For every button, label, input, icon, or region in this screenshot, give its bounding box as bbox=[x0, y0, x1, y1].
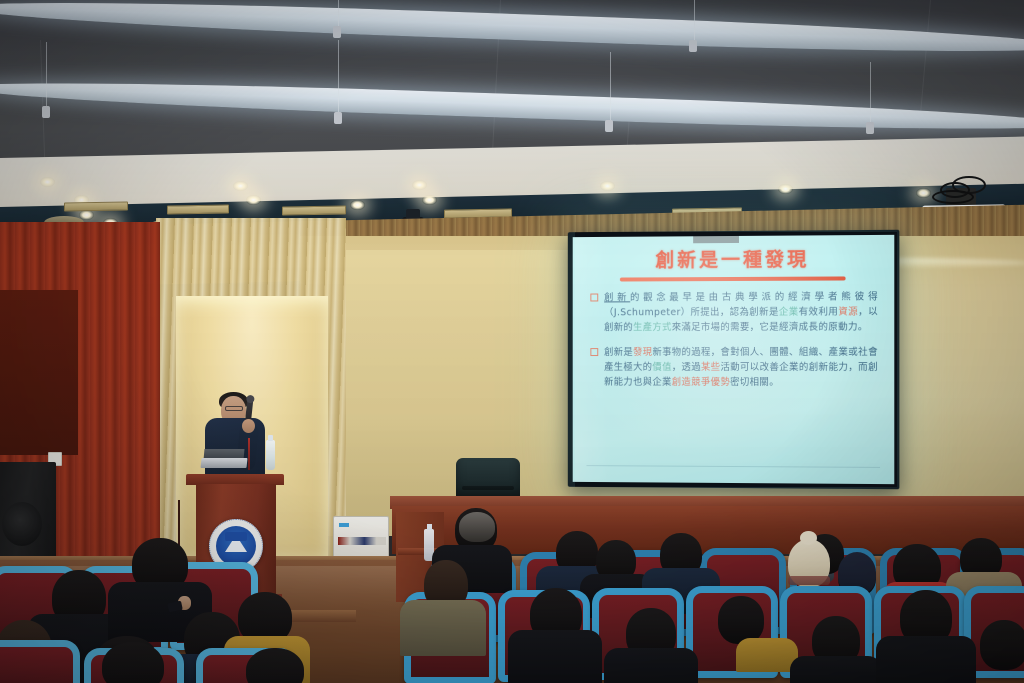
panel-breaker-row bbox=[338, 537, 386, 545]
light-hanger-clip bbox=[333, 26, 341, 38]
red-wall-recess bbox=[0, 290, 78, 455]
downlight bbox=[422, 195, 437, 205]
light-hanger-clip bbox=[866, 122, 874, 134]
podium-laptop[interactable] bbox=[200, 458, 247, 468]
seat-frame bbox=[0, 640, 80, 683]
bullet2-seg-4: ，透過 bbox=[672, 362, 701, 373]
auditorium-seat[interactable] bbox=[0, 640, 80, 683]
screen-surface: 創新是一種發現 創新的觀念最早是由古典學派的經濟學者熊彼得（J.Schumpet… bbox=[573, 235, 895, 484]
bullet2-seg-1: 發現 bbox=[633, 347, 652, 358]
light-hanger-clip bbox=[689, 40, 697, 52]
ceiling-air-vent bbox=[282, 205, 346, 215]
downlight bbox=[412, 180, 427, 190]
lecture-hall-photo: ||| 創新是一種發現 創新的觀念最早是由古典學派的經濟學者熊彼得（J.Schu… bbox=[0, 0, 1024, 683]
bullet1-seg-7: 來滿足市場的需要，它是經濟成長的原動力。 bbox=[672, 322, 868, 333]
ceiling-seam bbox=[40, 40, 46, 170]
downlight bbox=[778, 184, 793, 194]
projector-cable bbox=[932, 190, 974, 204]
ceiling-light-strip bbox=[0, 0, 1024, 59]
bullet2-seg-7: 創造競爭優勢 bbox=[672, 377, 730, 388]
slide-title-underline bbox=[620, 276, 846, 281]
audience-head bbox=[102, 642, 164, 683]
bullet1-seg-3: 有效利用 bbox=[799, 307, 839, 318]
bullet2-seg-3: 價值 bbox=[652, 362, 671, 373]
bullet1-seg-4: 資源 bbox=[838, 307, 858, 318]
downlight bbox=[916, 188, 931, 198]
presenter-glasses bbox=[225, 406, 243, 411]
light-hanger bbox=[870, 62, 871, 126]
podium-microphone-stand bbox=[248, 438, 250, 470]
audience-head bbox=[246, 648, 304, 683]
bullet2-seg-5: 某些 bbox=[701, 362, 721, 373]
light-hanger bbox=[610, 52, 611, 124]
bullet1-seg-6: 生產方式 bbox=[633, 322, 672, 333]
audience-head-grey-hair bbox=[459, 512, 495, 542]
slide-bullet-2-text: 創新是發現新事物的過程，會對個人、團體、組織、產業或社會產生極大的價值，透過某些… bbox=[604, 344, 878, 390]
downlight bbox=[246, 195, 261, 205]
light-hanger-clip bbox=[605, 120, 613, 132]
downlight bbox=[600, 181, 615, 191]
audience-shoulders bbox=[604, 648, 698, 683]
bullet1-seg-2: 企業 bbox=[779, 307, 799, 318]
executive-chair-seam bbox=[462, 486, 514, 490]
audience-shoulders bbox=[876, 636, 976, 683]
downlight bbox=[350, 200, 365, 210]
audience-shoulders bbox=[736, 638, 798, 672]
panel-indicator-led bbox=[339, 523, 349, 527]
downlight bbox=[233, 181, 248, 191]
audience-head bbox=[718, 596, 764, 644]
cream-knit-beanie bbox=[788, 539, 830, 587]
presenter-hand bbox=[242, 419, 255, 433]
slide-content: 創新是一種發現 創新的觀念最早是由古典學派的經濟學者熊彼得（J.Schumpet… bbox=[573, 235, 895, 484]
audience-shoulders bbox=[790, 656, 882, 683]
bullet2-seg-0: 創新是 bbox=[604, 347, 633, 358]
bullet-square-icon bbox=[590, 348, 598, 356]
light-hanger bbox=[694, 0, 695, 44]
slide-title: 創新是一種發現 bbox=[588, 249, 878, 272]
podium-water-bottle bbox=[266, 440, 275, 470]
bullet1-seg-0: 創新 bbox=[604, 292, 630, 303]
bullet-square-icon bbox=[590, 293, 598, 301]
light-hanger bbox=[46, 42, 47, 110]
bullet2-seg-8: 密切相關。 bbox=[730, 377, 779, 388]
slide-footer-rule bbox=[586, 465, 880, 468]
slide-bullet-2: 創新是發現新事物的過程，會對個人、團體、組織、產業或社會產生極大的價值，透過某些… bbox=[588, 344, 878, 390]
speaker-driver-cone bbox=[2, 502, 42, 546]
emblem-mountain-glyph-icon bbox=[216, 526, 256, 566]
light-hanger-clip bbox=[42, 106, 50, 118]
slide-bullet-1-text: 創新的觀念最早是由古典學派的經濟學者熊彼得（J.Schumpeter）所提出，認… bbox=[604, 289, 878, 335]
executive-chair bbox=[456, 458, 520, 500]
downlight bbox=[40, 177, 55, 187]
projection-screen: 創新是一種發現 創新的觀念最早是由古典學派的經濟學者熊彼得（J.Schumpet… bbox=[568, 230, 900, 490]
audience-shoulders bbox=[508, 630, 602, 683]
light-hanger-clip bbox=[334, 112, 342, 124]
ceiling-air-vent bbox=[167, 204, 229, 214]
wall-electrical-panel bbox=[333, 516, 389, 560]
slide-bullet-1: 創新的觀念最早是由古典學派的經濟學者熊彼得（J.Schumpeter）所提出，認… bbox=[588, 289, 878, 335]
light-hanger bbox=[338, 0, 339, 28]
ceiling-air-vent bbox=[64, 201, 128, 211]
audience-head bbox=[980, 620, 1024, 670]
audience-shoulders bbox=[400, 600, 486, 656]
light-hanger bbox=[338, 40, 339, 116]
